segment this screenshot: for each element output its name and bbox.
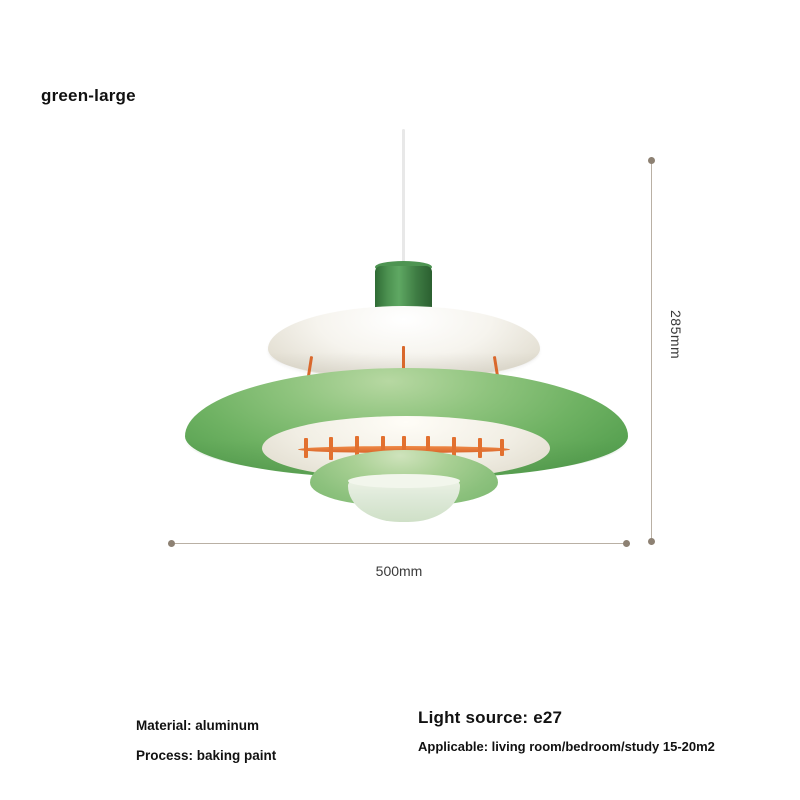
width-dimension-label: 500mm xyxy=(168,563,630,579)
spec-material: Material: aluminum xyxy=(136,711,276,741)
spec-process: Process: baking paint xyxy=(136,741,276,771)
bottom-cup-rim xyxy=(348,474,460,488)
width-endpoint-left-dot xyxy=(168,540,175,547)
orange-slat xyxy=(478,438,482,458)
page-title: green-large xyxy=(41,86,136,106)
height-dimension-label: 285mm xyxy=(668,310,684,359)
height-endpoint-bottom-dot xyxy=(648,538,655,545)
height-line xyxy=(651,157,652,545)
lamp-cord xyxy=(402,129,405,277)
orange-slat xyxy=(500,439,504,456)
spec-applicable: Applicable: living room/bedroom/study 15… xyxy=(418,739,715,754)
orange-slat xyxy=(304,438,308,458)
spec-left-group: Material: aluminum Process: baking paint xyxy=(136,711,276,771)
height-endpoint-top-dot xyxy=(648,157,655,164)
orange-slat xyxy=(329,437,333,460)
height-dimension-line xyxy=(645,157,659,545)
width-endpoint-right-dot xyxy=(623,540,630,547)
spec-light-source: Light source: e27 xyxy=(418,708,715,728)
width-dimension-line xyxy=(168,537,630,551)
lamp-illustration xyxy=(150,120,650,540)
width-line xyxy=(168,543,630,544)
spec-right-group: Light source: e27 Applicable: living roo… xyxy=(418,708,715,754)
